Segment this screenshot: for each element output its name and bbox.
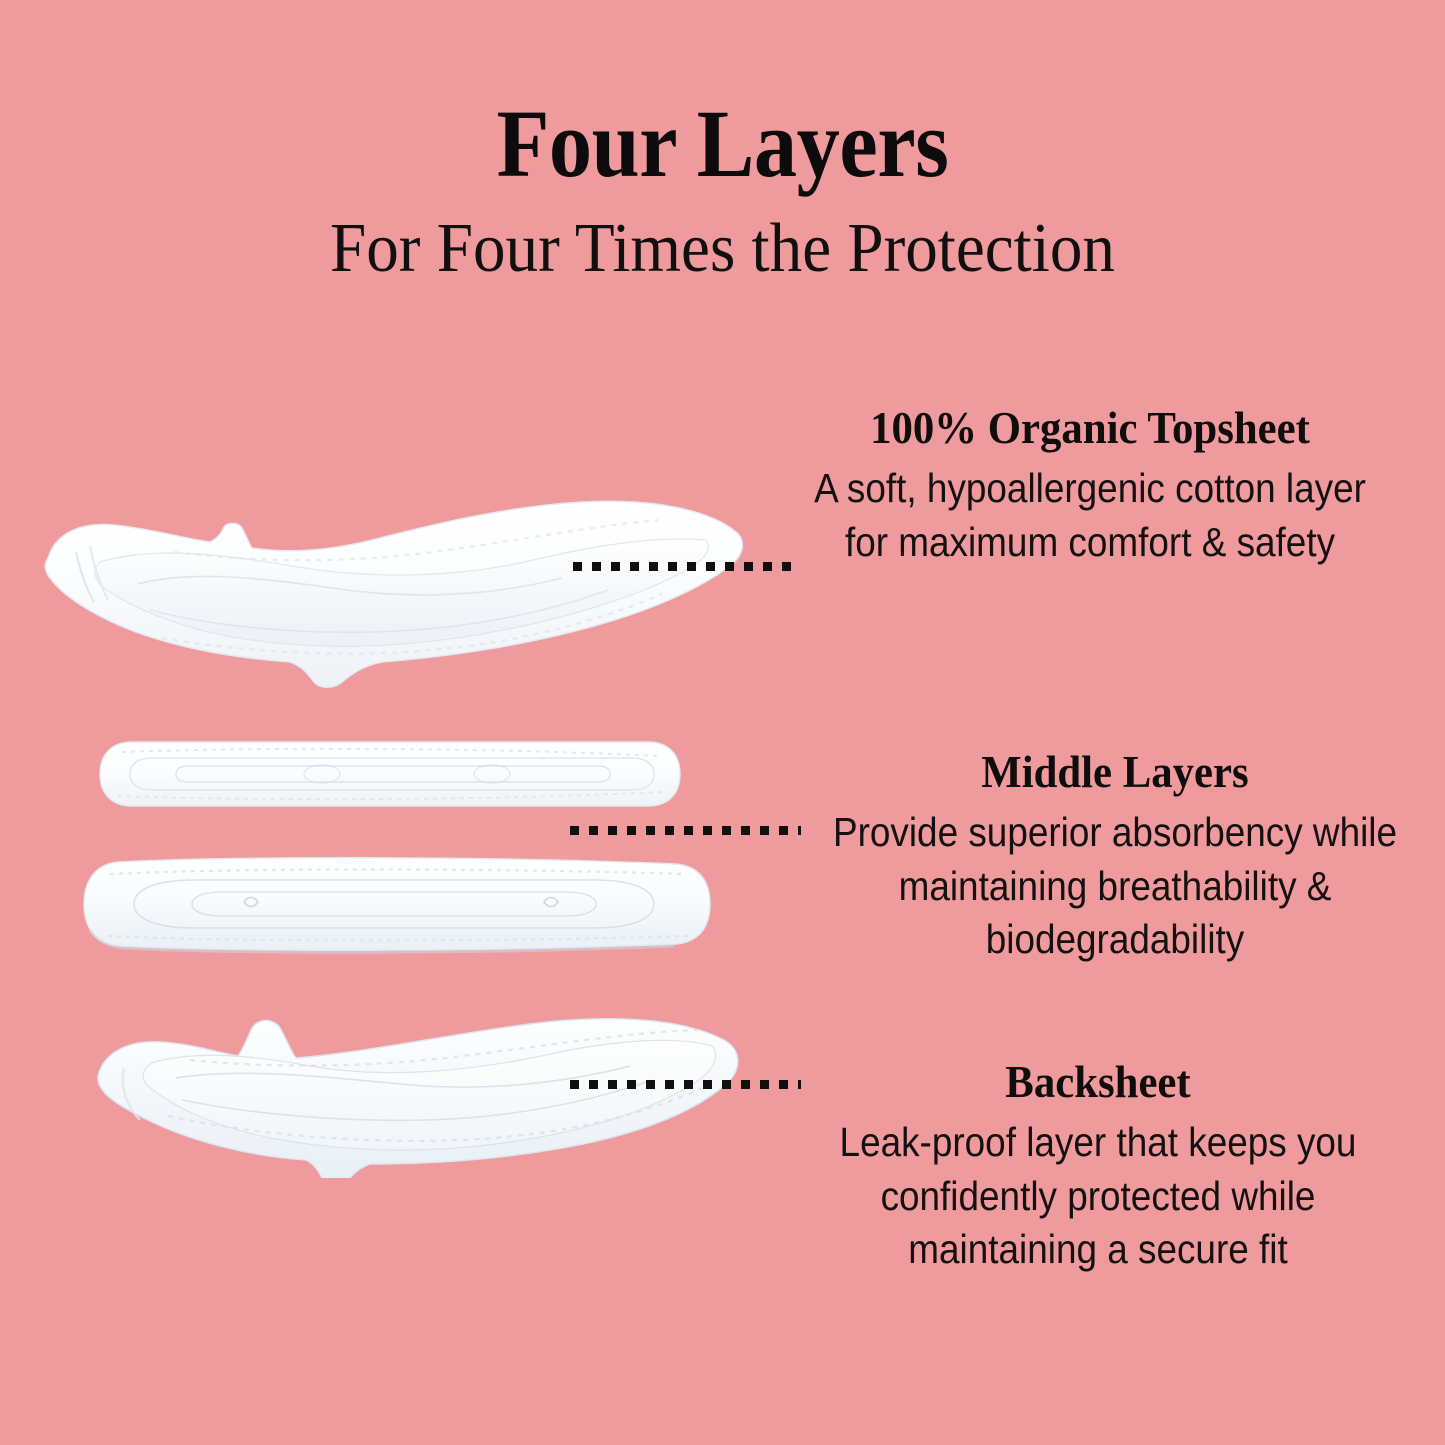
- leader-line-topsheet: [573, 562, 801, 571]
- layer-description-topsheet: A soft, hypoallergenic cotton layer for …: [802, 462, 1378, 569]
- page-title: Four Layers: [72, 96, 1373, 192]
- layer-heading-backsheet: Backsheet: [791, 1058, 1405, 1106]
- layer-heading-topsheet: 100% Organic Topsheet: [792, 404, 1387, 452]
- layer-text-topsheet: 100% Organic Topsheet A soft, hypoallerg…: [770, 404, 1410, 569]
- pad-backsheet-illustration: [70, 1008, 770, 1178]
- layer-text-backsheet: Backsheet Leak-proof layer that keeps yo…: [768, 1058, 1428, 1276]
- layer-description-backsheet: Leak-proof layer that keeps you confiden…: [801, 1116, 1395, 1276]
- pad-middle-layer-thin-illustration: [92, 728, 688, 820]
- header-block: Four Layers For Four Times the Protectio…: [0, 96, 1445, 284]
- layer-text-middle: Middle Layers Provide superior absorbenc…: [800, 748, 1430, 966]
- four-layers-infographic: Four Layers For Four Times the Protectio…: [0, 0, 1445, 1445]
- layer-heading-middle: Middle Layers: [822, 748, 1408, 796]
- pad-topsheet-illustration: [42, 492, 748, 692]
- pad-middle-layer-thick-illustration: [74, 852, 724, 960]
- leader-line-middle: [570, 826, 801, 835]
- leader-line-backsheet: [570, 1080, 801, 1089]
- layer-description-middle: Provide superior absorbency while mainta…: [832, 806, 1399, 966]
- page-subtitle: For Four Times the Protection: [51, 214, 1395, 284]
